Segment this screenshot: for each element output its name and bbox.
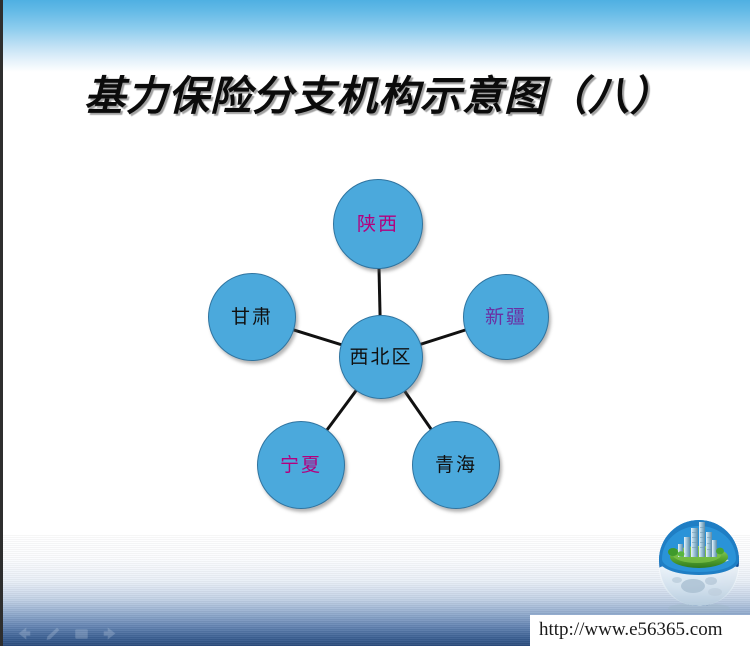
node-xinjiang-label: 新疆 — [485, 308, 527, 327]
globe-graphic — [653, 518, 745, 614]
pen-icon[interactable] — [44, 626, 61, 641]
node-shaanxi-label: 陕西 — [357, 215, 399, 234]
node-gansu[interactable]: 甘肃 — [208, 273, 296, 361]
node-shaanxi[interactable]: 陕西 — [333, 179, 423, 269]
org-diagram: 陕西 甘肃 新疆 宁夏 青海 西北区 — [188, 165, 568, 515]
presentation-slide: 基力保险分支机构示意图（八） 陕西 甘肃 新疆 宁夏 青海 — [0, 0, 750, 646]
node-xinjiang[interactable]: 新疆 — [463, 274, 549, 360]
node-qinghai-label: 青海 — [435, 456, 477, 475]
node-ningxia-label: 宁夏 — [280, 456, 322, 475]
node-qinghai[interactable]: 青海 — [412, 421, 500, 509]
menu-icon[interactable] — [73, 626, 90, 641]
watermark-url: http://www.e56365.com — [539, 619, 722, 641]
next-slide-icon[interactable] — [102, 626, 119, 641]
slideshow-controls[interactable] — [15, 626, 119, 641]
node-center-northwest-region[interactable]: 西北区 — [339, 315, 423, 399]
globe-logo — [653, 518, 745, 614]
node-gansu-label: 甘肃 — [231, 308, 273, 327]
previous-slide-icon[interactable] — [15, 626, 32, 641]
slide-title: 基力保险分支机构示意图（八） — [3, 62, 750, 122]
node-center-label: 西北区 — [349, 348, 412, 367]
node-ningxia[interactable]: 宁夏 — [257, 421, 345, 509]
